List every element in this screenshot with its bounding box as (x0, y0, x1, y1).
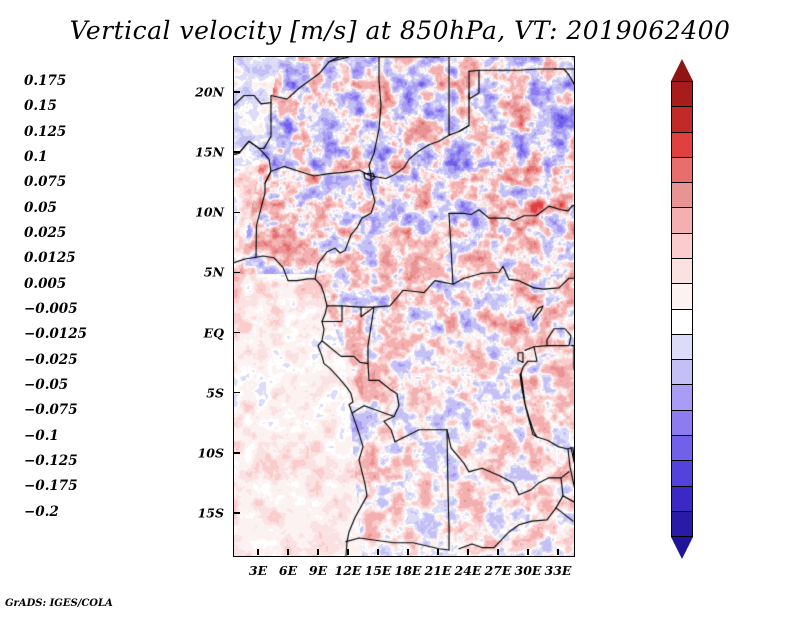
colorbar-band (672, 183, 692, 208)
x-axis-tick-mark (557, 549, 559, 555)
vertical-velocity-heatmap (234, 57, 574, 556)
colorbar-band (672, 208, 692, 233)
colorbar-band (672, 512, 692, 536)
y-axis-tick-label: 20N (195, 85, 224, 100)
y-axis-tick-label: 10S (198, 445, 224, 460)
x-axis-tick-label: 9E (309, 563, 327, 578)
x-axis-tick-mark (347, 549, 349, 555)
colorbar-band (672, 284, 692, 309)
y-axis-tick-label: 5N (204, 265, 224, 280)
x-axis-tick-label: 24E (455, 563, 482, 578)
y-axis-tick-label: 5S (206, 385, 224, 400)
y-axis-tick-mark (234, 392, 240, 394)
colorbar-band (672, 385, 692, 410)
colorbar-tick-label: −0.025 (24, 352, 78, 368)
y-axis-tick-mark (234, 452, 240, 454)
page-title: Vertical velocity [m/s] at 850hPa, VT: 2… (0, 16, 800, 45)
colorbar-tick-label: −0.125 (24, 453, 78, 469)
x-axis-tick-label: 30E (515, 563, 542, 578)
colorbar-band (672, 133, 692, 158)
x-axis-tick-mark (527, 549, 529, 555)
colorbar-band (672, 158, 692, 183)
colorbar-cap-top-arrow (671, 59, 693, 81)
colorbar-tick-label: 0.025 (24, 225, 66, 241)
colorbar-tick-label: 0.1 (24, 149, 48, 165)
colorbar-band (672, 411, 692, 436)
colorbar-tick-label: 0.005 (24, 276, 66, 292)
y-axis-tick-mark (234, 332, 240, 334)
colorbar-tick-label: −0.005 (24, 301, 78, 317)
x-axis-tick-label: 12E (335, 563, 362, 578)
x-axis-tick-mark (467, 549, 469, 555)
colorbar-band (672, 310, 692, 335)
colorbar-band (672, 82, 692, 107)
colorbar-band (672, 436, 692, 461)
colorbar-tick-label: −0.0125 (24, 326, 87, 342)
colorbar-band (672, 234, 692, 259)
y-axis-tick-mark (234, 512, 240, 514)
x-axis-tick-mark (407, 549, 409, 555)
colorbar-tick-label: −0.2 (24, 504, 59, 520)
x-axis-tick-mark (377, 549, 379, 555)
colorbar-band (672, 487, 692, 512)
x-axis-tick-label: 6E (279, 563, 297, 578)
colorbar-tick-label: 0.125 (24, 124, 66, 140)
x-axis-tick-mark (287, 549, 289, 555)
x-axis-tick-mark (317, 549, 319, 555)
colorbar-tick-label: −0.075 (24, 402, 78, 418)
colorbar-tick-label: −0.1 (24, 428, 59, 444)
colorbar-tick-label: 0.0125 (24, 250, 76, 266)
colorbar-band (672, 259, 692, 284)
colorbar-tick-label: 0.075 (24, 174, 66, 190)
colorbar-bands (671, 81, 693, 537)
grads-credit: GrADS: IGES/COLA (5, 598, 113, 609)
y-axis-tick-mark (234, 212, 240, 214)
colorbar-tick-label: −0.175 (24, 478, 78, 494)
colorbar-band (672, 335, 692, 360)
x-axis-tick-label: 18E (395, 563, 422, 578)
colorbar-tick-label: 0.05 (24, 200, 57, 216)
colorbar-band (672, 461, 692, 486)
x-axis-tick-label: 3E (249, 563, 267, 578)
x-axis-tick-label: 33E (545, 563, 572, 578)
colorbar-band (672, 360, 692, 385)
x-axis-tick-mark (257, 549, 259, 555)
x-axis-tick-label: 21E (425, 563, 452, 578)
colorbar-tick-label: 0.175 (24, 73, 66, 89)
colorbar-tick-label: −0.05 (24, 377, 68, 393)
y-axis-tick-label: 15N (195, 145, 224, 160)
colorbar-tick-label: 0.15 (24, 98, 57, 114)
map-plot-area (233, 56, 575, 557)
colorbar-band (672, 107, 692, 132)
x-axis-tick-label: 27E (485, 563, 512, 578)
y-axis-tick-mark (234, 91, 240, 93)
x-axis-tick-label: 15E (365, 563, 392, 578)
colorbar (671, 59, 693, 559)
y-axis-tick-label: 10N (195, 205, 224, 220)
y-axis-tick-mark (234, 272, 240, 274)
x-axis-tick-mark (437, 549, 439, 555)
y-axis-tick-label: EQ (204, 325, 224, 340)
y-axis-tick-mark (234, 151, 240, 153)
x-axis-tick-mark (497, 549, 499, 555)
colorbar-cap-bottom-arrow (671, 537, 693, 559)
y-axis-tick-label: 15S (198, 505, 224, 520)
